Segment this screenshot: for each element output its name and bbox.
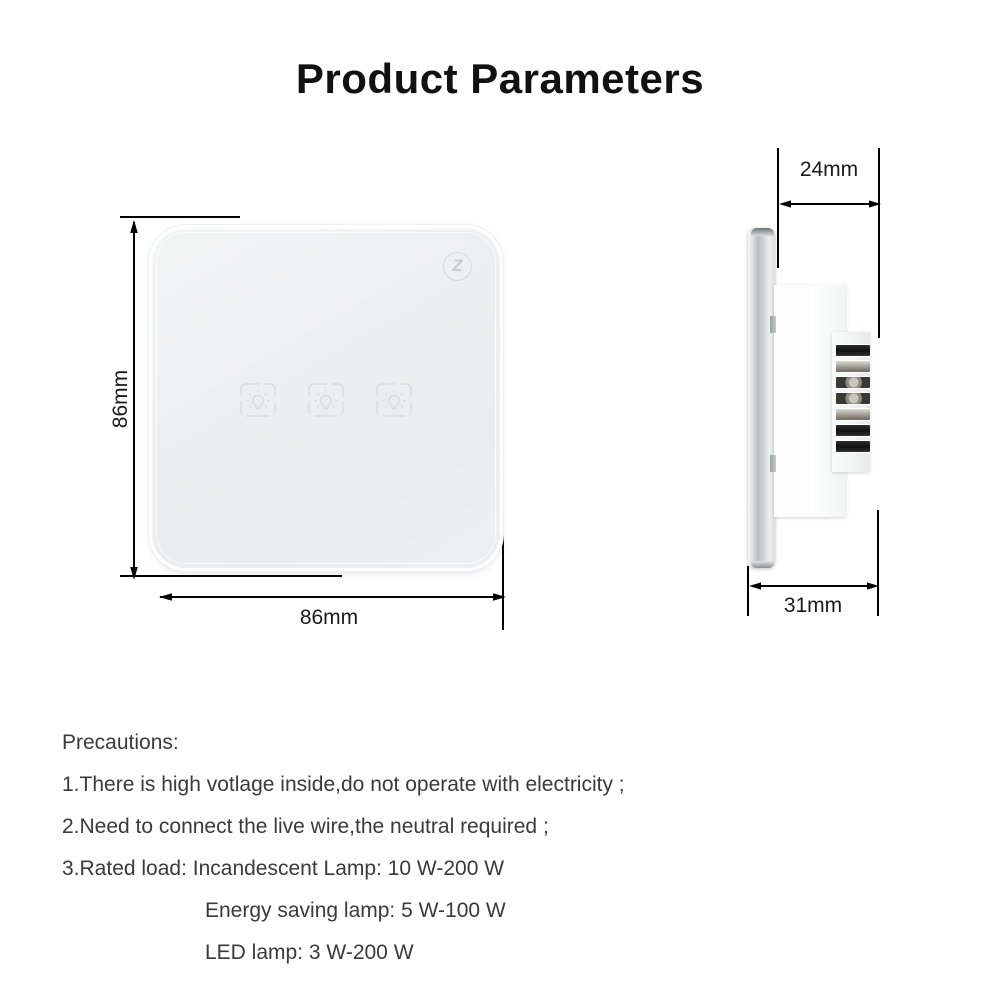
touch-button-1[interactable]: [236, 378, 280, 422]
faceplate-edge: [748, 228, 775, 568]
touch-button-2[interactable]: [304, 378, 348, 422]
precautions-heading: Precautions:: [62, 722, 942, 764]
side-view-diagram: 24mm 31mm: [700, 0, 1000, 660]
precaution-item-2: 2.Need to connect the live wire,the neut…: [62, 806, 942, 848]
front-right-witness-line: [502, 512, 504, 630]
precautions-block: Precautions: 1.There is high votlage ins…: [62, 722, 942, 974]
front-bottom-witness-line: [120, 575, 342, 577]
touch-button-row: [152, 378, 500, 422]
light-bulb-icon: [304, 378, 348, 422]
front-height-label: 86mm: [109, 364, 133, 434]
terminal-slot: [836, 425, 870, 436]
terminal-slot: [836, 377, 870, 388]
front-view-diagram: 86mm 86mm Z: [0, 0, 560, 660]
side-depth24-label: 24mm: [776, 158, 882, 182]
light-bulb-icon: [236, 378, 280, 422]
switch-faceplate[interactable]: Z: [152, 228, 500, 568]
precaution-item-1: 1.There is high votlage inside,do not op…: [62, 764, 942, 806]
front-width-label: 86mm: [160, 606, 498, 630]
mounting-tab-top: [770, 316, 776, 333]
terminal-slot: [836, 441, 870, 452]
terminal-slot: [836, 393, 870, 404]
touch-button-3[interactable]: [372, 378, 416, 422]
terminal-slot: [836, 345, 870, 356]
zigbee-logo-icon: Z: [443, 252, 472, 281]
precaution-subitem-1: Energy saving lamp: 5 W-100 W: [62, 890, 942, 932]
side-depth31-arrowheads: [746, 577, 884, 595]
terminal-slot: [836, 361, 870, 372]
side-depth31-label: 31mm: [746, 594, 880, 618]
mounting-tab-bottom: [770, 455, 776, 472]
side-depth24-arrowheads: [776, 195, 886, 213]
precaution-item-3: 3.Rated load: Incandescent Lamp: 10 W-20…: [62, 848, 942, 890]
light-bulb-icon: [372, 378, 416, 422]
front-width-arrowheads: [155, 588, 515, 606]
terminal-slot: [836, 409, 870, 420]
precaution-subitem-2: LED lamp: 3 W-200 W: [62, 932, 942, 974]
